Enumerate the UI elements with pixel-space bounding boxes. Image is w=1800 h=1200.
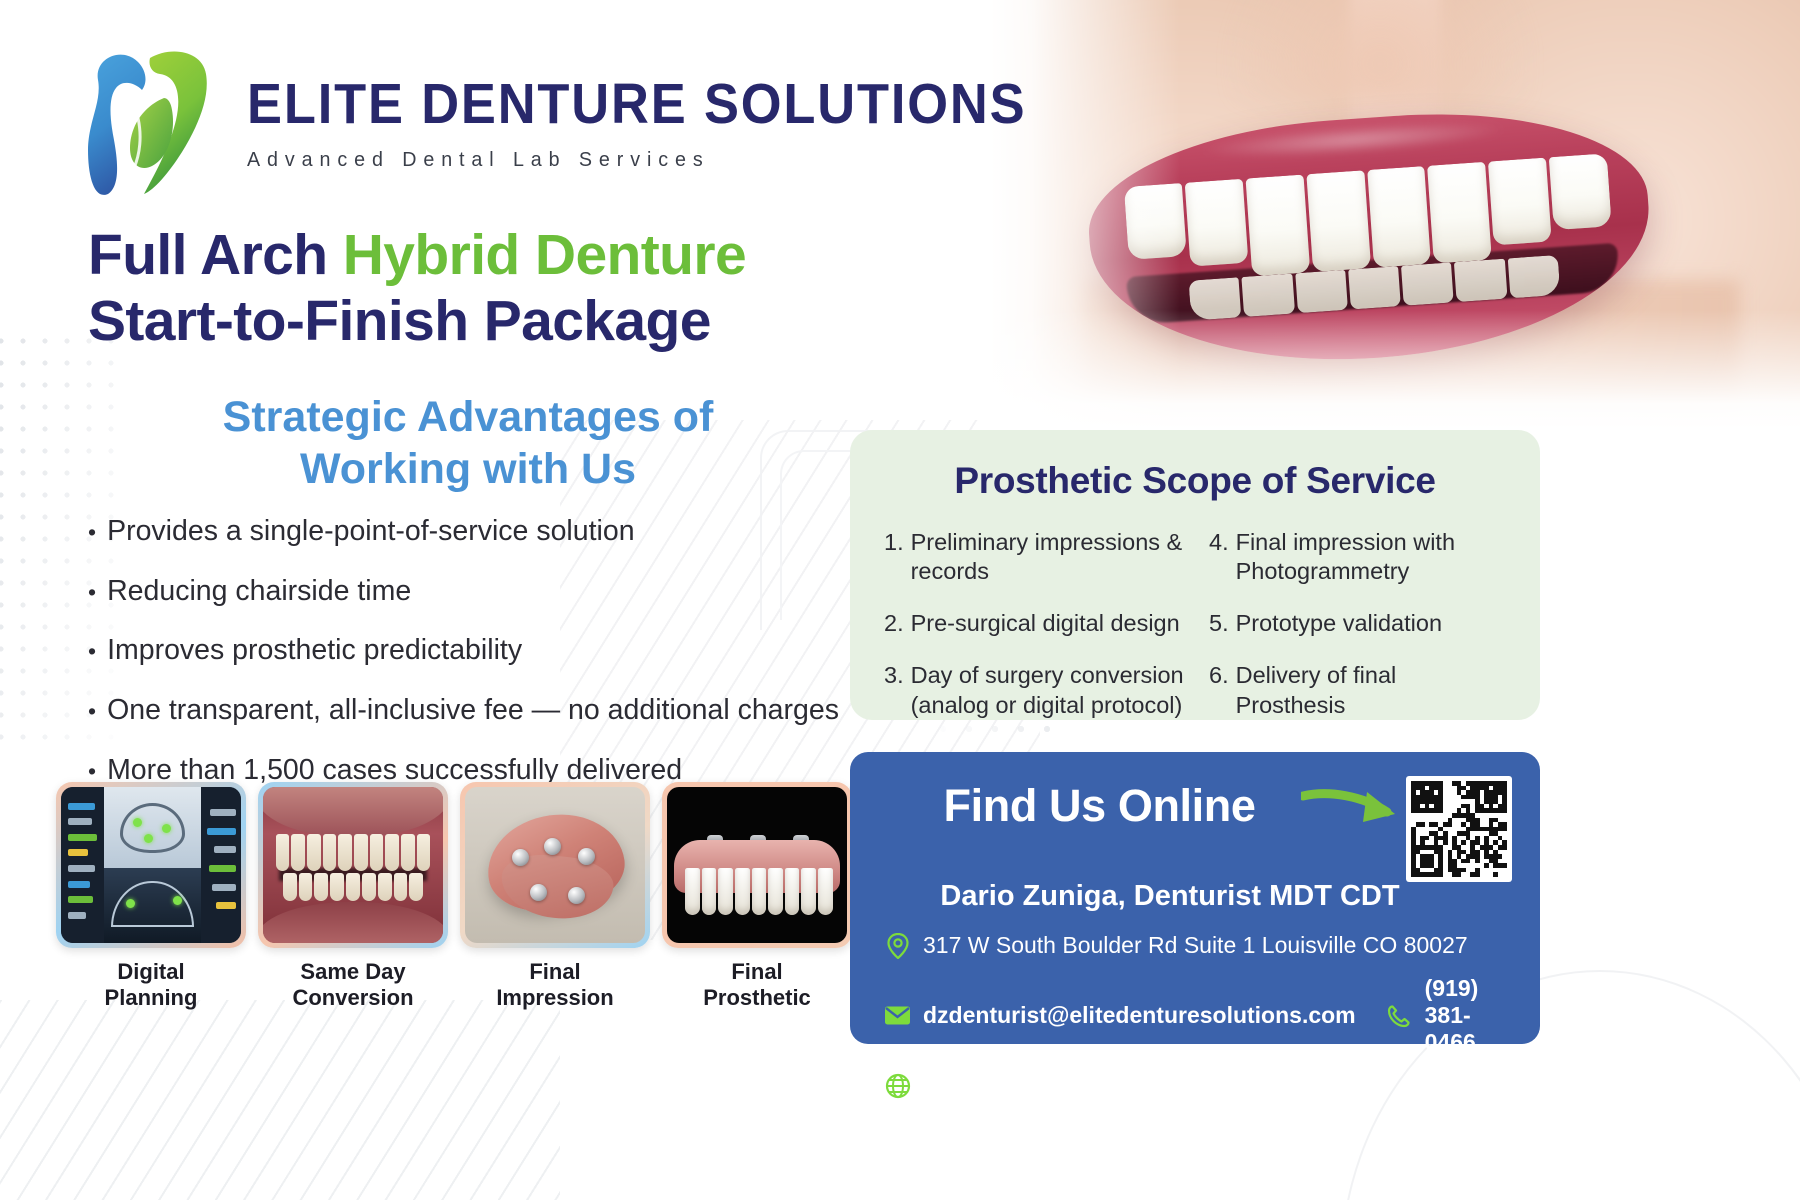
caption-line2: Prosthetic [703, 985, 811, 1010]
contact-panel: Find Us Online Dario Zuniga, Denturist M… [850, 752, 1540, 1044]
contact-website-row[interactable]: www.elitedenturesolution.com [884, 1072, 1512, 1099]
scope-item-label: Prototype validation [1236, 609, 1442, 638]
contact-phone-label: (919) 381-0466 [1425, 975, 1512, 1056]
gallery-item-final-prosthetic: Final Prosthetic [662, 782, 852, 1012]
contact-person-name: Dario Zuniga, Denturist MDT CDT [884, 880, 1512, 913]
gallery-caption: Same Day Conversion [258, 959, 448, 1012]
list-item: • Provides a single-point-of-service sol… [88, 515, 878, 549]
process-gallery: Digital Planning Same Day Conversion [56, 782, 852, 1012]
scope-item-number: 4. [1209, 528, 1229, 586]
flyer-page: ELITE DENTURE SOLUTIONS Advanced Dental … [0, 0, 1800, 1200]
scope-column-right: 4. Final impression with Photogrammetry … [1195, 528, 1506, 743]
list-item-label: One transparent, all-inclusive fee — no … [107, 694, 839, 728]
location-pin-icon [884, 932, 911, 959]
scope-title: Prosthetic Scope of Service [884, 460, 1506, 502]
contact-email-row[interactable]: dzdenturist@elitedenturesolutions.com [884, 1002, 1356, 1029]
phone-icon [1386, 1002, 1413, 1029]
advantages-list: • Provides a single-point-of-service sol… [88, 515, 878, 813]
caption-line1: Final [529, 959, 580, 984]
page-title: Full Arch Hybrid Denture Start-to-Finish… [88, 222, 888, 354]
headline-line1-plain: Full Arch [88, 223, 343, 287]
diagonal-stripes-bottom [0, 1000, 560, 1200]
scope-item-label: Final impression with Photogrammetry [1236, 528, 1506, 586]
qr-code-icon[interactable] [1406, 776, 1512, 882]
tooth-leaf-logo-icon [78, 40, 223, 200]
photo-frame [258, 782, 448, 948]
scope-item: 4. Final impression with Photogrammetry [1209, 528, 1506, 586]
photo-frame [56, 782, 246, 948]
scope-item: 3. Day of surgery conversion (analog or … [884, 661, 1195, 719]
caption-line2: Planning [105, 985, 198, 1010]
bullet-dot-icon: • [88, 700, 96, 723]
contact-address-row: 317 W South Boulder Rd Suite 1 Louisvill… [884, 932, 1512, 959]
scope-item-number: 2. [884, 609, 904, 638]
subheading-line2: Working with Us [300, 445, 636, 493]
contact-address-label: 317 W South Boulder Rd Suite 1 Louisvill… [923, 932, 1468, 959]
bullet-dot-icon: • [88, 760, 96, 783]
contact-email-label: dzdenturist@elitedenturesolutions.com [923, 1002, 1356, 1029]
photo-frame [662, 782, 852, 948]
scope-item: 2. Pre-surgical digital design [884, 609, 1195, 638]
final-prosthetic-photo [667, 787, 847, 943]
final-impression-photo [465, 787, 645, 943]
caption-line2: Impression [496, 985, 613, 1010]
scope-item-label: Delivery of final Prosthesis [1236, 661, 1506, 719]
bullet-dot-icon: • [88, 640, 96, 663]
prosthetic-scope-panel: Prosthetic Scope of Service 1. Prelimina… [850, 430, 1540, 720]
caption-line1: Digital [117, 959, 184, 984]
subheading-line1: Strategic Advantages of [223, 393, 714, 441]
scope-item: 6. Delivery of final Prosthesis [1209, 661, 1506, 719]
brand-name: ELITE DENTURE SOLUTIONS [247, 76, 1026, 133]
scope-item-number: 6. [1209, 661, 1229, 719]
scope-item: 5. Prototype validation [1209, 609, 1506, 638]
scope-item-number: 1. [884, 528, 904, 586]
list-item: • Reducing chairside time [88, 575, 878, 609]
photo-frame [460, 782, 650, 948]
gallery-item-same-day-conversion: Same Day Conversion [258, 782, 448, 1012]
scope-item-label: Preliminary impressions & records [911, 528, 1195, 586]
subheading: Strategic Advantages of Working with Us [88, 392, 848, 495]
gallery-item-final-impression: Final Impression [460, 782, 650, 1012]
globe-icon [884, 1072, 911, 1099]
bullet-dot-icon: • [88, 581, 96, 604]
scope-item-label: Day of surgery conversion (analog or dig… [911, 661, 1195, 719]
brand-logo: ELITE DENTURE SOLUTIONS Advanced Dental … [78, 40, 1094, 200]
brand-tagline: Advanced Dental Lab Services [247, 148, 1060, 172]
scope-column-left: 1. Preliminary impressions & records 2. … [884, 528, 1195, 743]
list-item-label: Provides a single-point-of-service solut… [107, 515, 635, 549]
contact-phone-row[interactable]: (919) 381-0466 [1386, 975, 1512, 1056]
digital-planning-photo [61, 787, 241, 943]
contact-title: Find Us Online [884, 780, 1301, 832]
gallery-caption: Final Prosthetic [662, 959, 852, 1012]
smiling-mouth-photo [990, 0, 1800, 430]
headline-line1-accent: Hybrid Denture [343, 223, 746, 287]
gallery-item-digital-planning: Digital Planning [56, 782, 246, 1012]
scope-item-number: 5. [1209, 609, 1229, 638]
same-day-conversion-photo [263, 787, 443, 943]
contact-website-label: www.elitedenturesolution.com [923, 1072, 1256, 1099]
gallery-caption: Digital Planning [56, 959, 246, 1012]
caption-line1: Same Day [300, 959, 405, 984]
scope-item-number: 3. [884, 661, 904, 719]
curved-arrow-icon [1301, 788, 1406, 836]
envelope-icon [884, 1002, 911, 1029]
bullet-dot-icon: • [88, 521, 96, 544]
list-item-label: Reducing chairside time [107, 575, 411, 609]
headline-line2: Start-to-Finish Package [88, 289, 711, 353]
caption-line1: Final [731, 959, 782, 984]
list-item-label: Improves prosthetic predictability [107, 634, 522, 668]
list-item: • One transparent, all-inclusive fee — n… [88, 694, 878, 728]
list-item: • Improves prosthetic predictability [88, 634, 878, 668]
scope-item-label: Pre-surgical digital design [911, 609, 1180, 638]
scope-item: 1. Preliminary impressions & records [884, 528, 1195, 586]
caption-line2: Conversion [292, 985, 413, 1010]
gallery-caption: Final Impression [460, 959, 650, 1012]
